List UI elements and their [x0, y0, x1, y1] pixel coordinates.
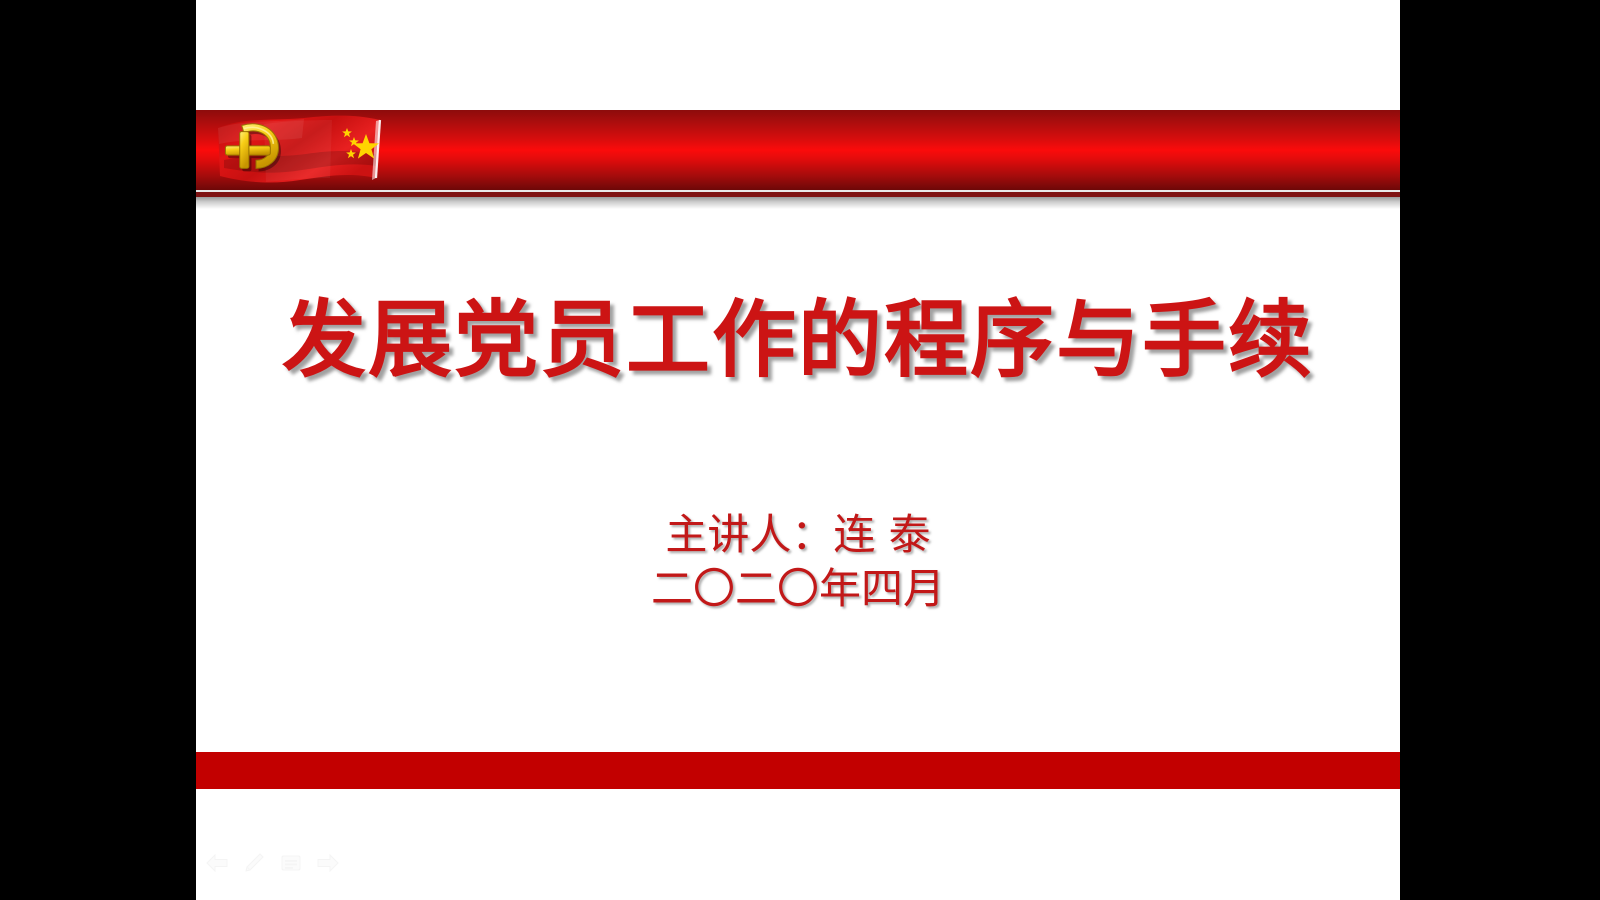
slide-canvas[interactable]: 发展党员工作的程序与手续 主讲人：连 泰 二〇二〇年四月: [196, 0, 1400, 900]
presentation-screen: 发展党员工作的程序与手续 主讲人：连 泰 二〇二〇年四月: [0, 0, 1600, 900]
slide-title: 发展党员工作的程序与手续: [196, 292, 1400, 389]
slide-subtitle: 主讲人：连 泰 二〇二〇年四月: [196, 508, 1400, 616]
presentation-controls: [204, 850, 341, 876]
next-arrow-icon[interactable]: [315, 850, 341, 876]
menu-icon[interactable]: [278, 850, 304, 876]
previous-arrow-icon[interactable]: [204, 850, 230, 876]
header-separator-fade: [196, 197, 1400, 209]
slide-footer-bar: [196, 752, 1400, 789]
pen-icon[interactable]: [241, 850, 267, 876]
subtitle-presenter: 主讲人：连 泰: [196, 508, 1400, 562]
cpc-flag-emblem-icon: [204, 108, 404, 194]
subtitle-date: 二〇二〇年四月: [196, 562, 1400, 616]
